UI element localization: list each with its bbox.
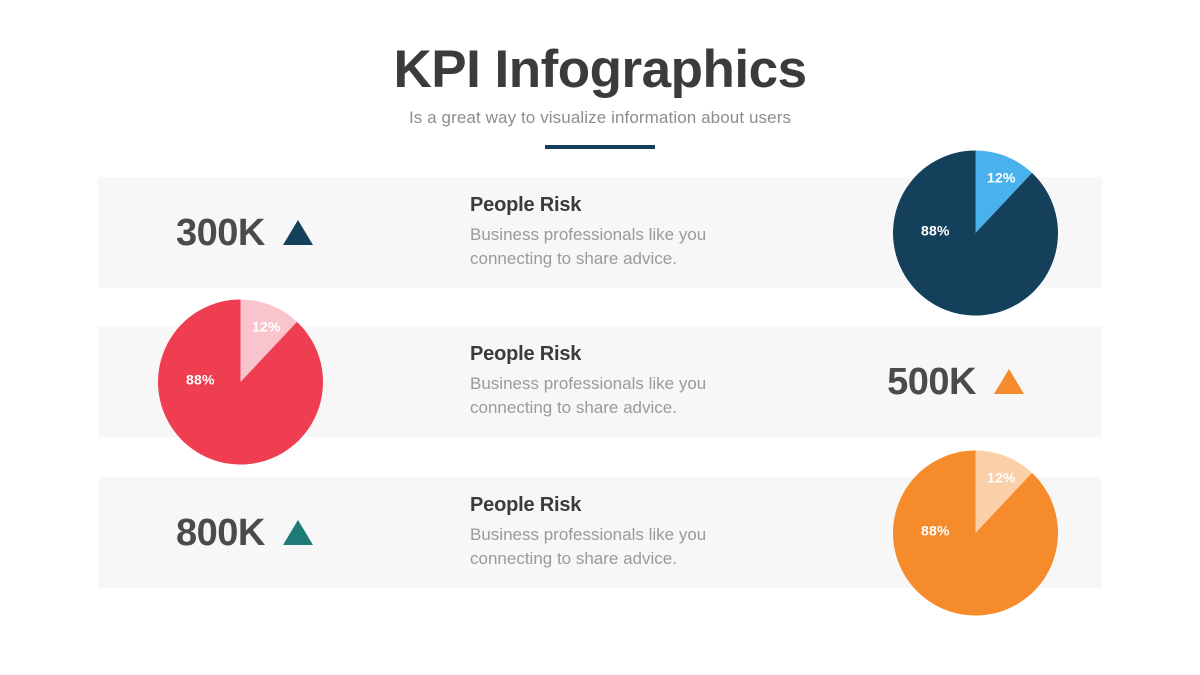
- kpi-description-body-line-2: connecting to share advice.: [470, 549, 677, 568]
- kpi-description: People Risk Business professionals like …: [470, 193, 800, 271]
- kpi-description: People Risk Business professionals like …: [470, 342, 800, 420]
- page-subtitle: Is a great way to visualize information …: [0, 108, 1200, 128]
- title-underline-rule: [545, 145, 655, 149]
- kpi-description-title: People Risk: [470, 493, 800, 516]
- pie-chart-wrapper: 88% 12%: [893, 450, 1058, 615]
- pie-chart-wrapper: 88% 12%: [158, 299, 323, 464]
- pie-minor-label: 12%: [987, 470, 1016, 486]
- pie-minor-label: 12%: [987, 170, 1016, 186]
- page-title: KPI Infographics: [0, 42, 1200, 98]
- kpi-row: 500K People Risk Business professionals …: [98, 326, 1102, 437]
- kpi-description-body: Business professionals like you connecti…: [470, 222, 800, 271]
- kpi-row: 800K People Risk Business professionals …: [98, 477, 1102, 588]
- kpi-metric-block: 300K: [176, 214, 313, 252]
- kpi-description: People Risk Business professionals like …: [470, 493, 800, 571]
- kpi-description-body-line-1: Business professionals like you: [470, 524, 706, 543]
- kpi-description-body-line-2: connecting to share advice.: [470, 398, 677, 417]
- pie-chart: 88% 12%: [158, 299, 323, 464]
- pie-chart-wrapper: 88% 12%: [893, 150, 1058, 315]
- kpi-description-title: People Risk: [470, 342, 800, 365]
- kpi-value: 800K: [176, 514, 265, 552]
- pie-chart: 88% 12%: [893, 150, 1058, 315]
- kpi-metric-block: 500K: [887, 363, 1024, 401]
- kpi-description-body-line-1: Business professionals like you: [470, 373, 706, 392]
- kpi-description-title: People Risk: [470, 193, 800, 216]
- trend-up-triangle-icon: [283, 520, 313, 545]
- trend-up-triangle-icon: [283, 220, 313, 245]
- kpi-metric-block: 800K: [176, 514, 313, 552]
- page-header: KPI Infographics Is a great way to visua…: [0, 42, 1200, 149]
- kpi-description-body: Business professionals like you connecti…: [470, 522, 800, 571]
- pie-major-label: 88%: [921, 223, 950, 239]
- kpi-description-body-line-2: connecting to share advice.: [470, 249, 677, 268]
- kpi-value: 500K: [887, 363, 976, 401]
- kpi-row: 300K People Risk Business professionals …: [98, 177, 1102, 288]
- pie-major-label: 88%: [921, 523, 950, 539]
- pie-major-label: 88%: [186, 372, 215, 388]
- trend-up-triangle-icon: [994, 369, 1024, 394]
- kpi-description-body: Business professionals like you connecti…: [470, 371, 800, 420]
- pie-chart: 88% 12%: [893, 450, 1058, 615]
- kpi-value: 300K: [176, 214, 265, 252]
- kpi-description-body-line-1: Business professionals like you: [470, 224, 706, 243]
- pie-minor-label: 12%: [252, 319, 281, 335]
